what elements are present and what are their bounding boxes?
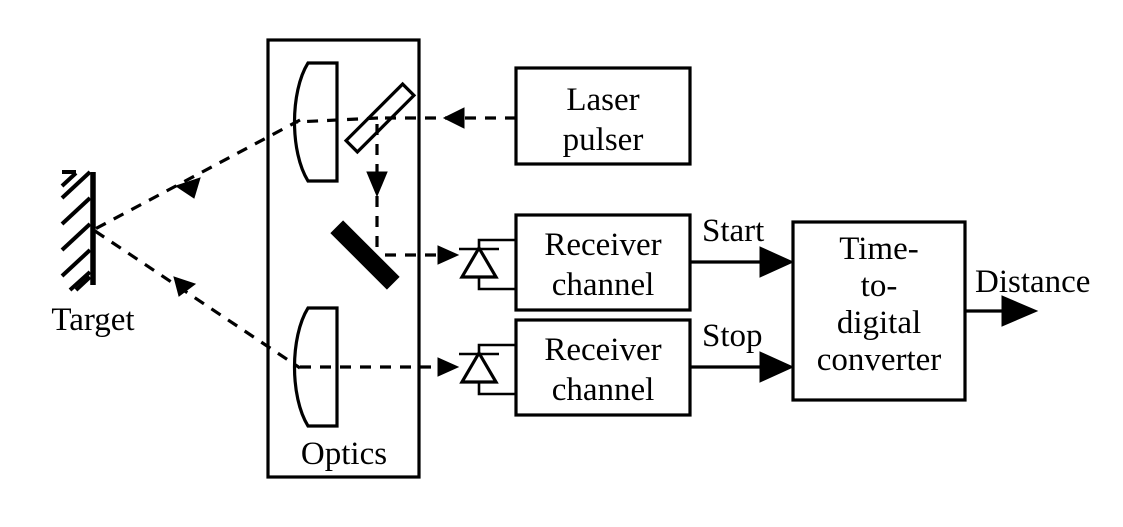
beam-arrow-left-to-splitter: [444, 108, 464, 128]
laser-pulser-label-line1: Laser: [566, 82, 639, 118]
photodiode-stop: [459, 345, 516, 394]
receiver-channel-bottom-label-line1: Receiver: [544, 332, 661, 368]
receiver-channel-top-label-line1: Receiver: [544, 227, 661, 263]
tdc-label-line2: to-: [861, 268, 898, 304]
photodiode-start-lead-bottom: [479, 277, 516, 289]
distance-output-wire: [965, 296, 1037, 326]
beam-arrow-to-receive-lens: [174, 277, 195, 296]
beam-arrow-to-photodiode-start: [438, 246, 458, 264]
start-signal-wire: [690, 247, 793, 277]
target-hatching: [62, 172, 90, 290]
tdc-label-line3: digital: [837, 305, 921, 341]
photodiode-start: [459, 240, 516, 289]
rangefinder-block-diagram: Target Optics Laser pulser Receiver chan…: [0, 0, 1123, 527]
receiver-channel-top-label-line2: channel: [552, 267, 655, 303]
beam-arrow-to-photodiode-stop: [438, 358, 458, 376]
start-label: Start: [702, 213, 764, 249]
stop-label: Stop: [702, 318, 763, 354]
stop-signal-wire: [690, 352, 793, 382]
photodiode-start-lead-top: [479, 240, 516, 248]
photodiode-stop-lead-bottom: [479, 382, 516, 394]
stop-arrow: [760, 352, 793, 382]
receiver-channel-bottom-label-line2: channel: [552, 372, 655, 408]
distance-arrow: [1002, 296, 1037, 326]
target-symbol: [62, 172, 93, 290]
tdc-label-line1: Time-: [839, 231, 918, 267]
start-arrow: [760, 247, 793, 277]
figure-canvas: Target Optics Laser pulser Receiver chan…: [0, 0, 1123, 527]
photodiode-stop-triangle: [462, 353, 496, 382]
laser-pulser-label-line2: pulser: [563, 122, 644, 158]
target-label: Target: [51, 302, 134, 338]
photodiode-stop-lead-top: [479, 345, 516, 353]
optics-label: Optics: [301, 436, 387, 472]
tdc-label-line4: converter: [817, 342, 942, 378]
photodiode-start-triangle: [462, 248, 496, 277]
distance-label: Distance: [975, 264, 1090, 300]
